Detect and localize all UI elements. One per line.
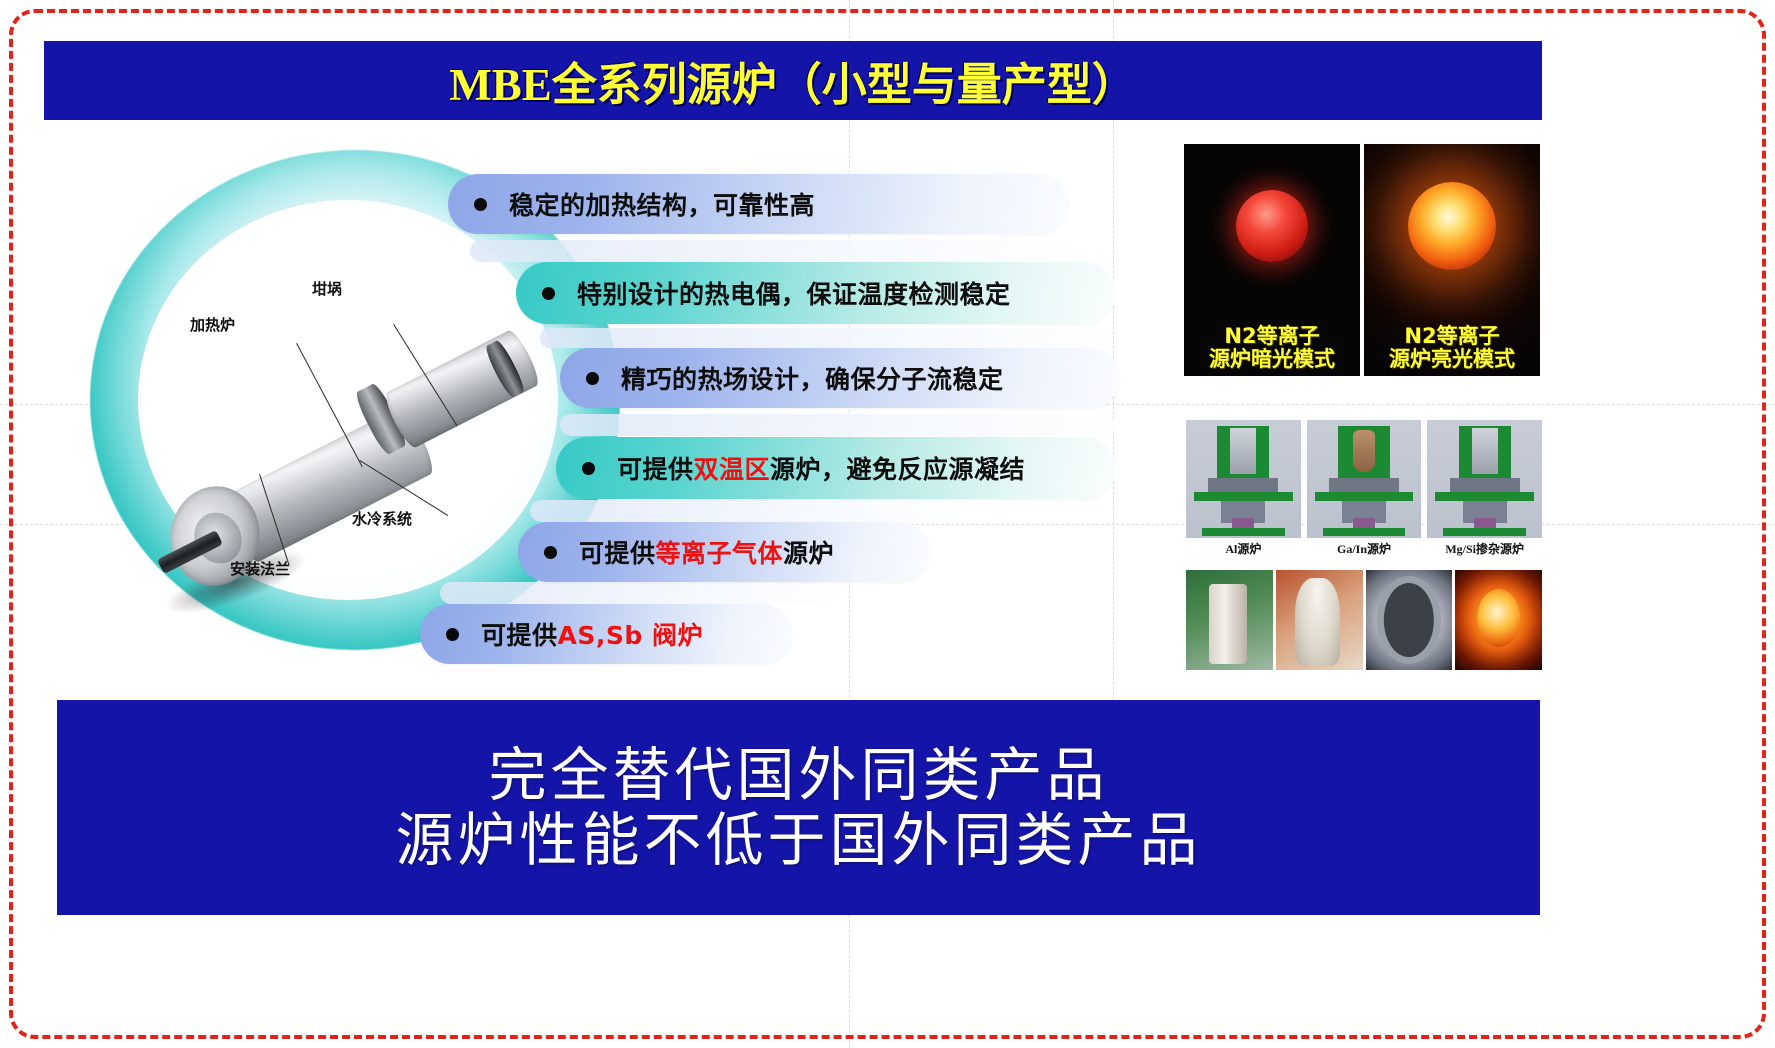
bullet-5-pre: 可提供 [579,539,656,568]
summary-line-2: 源炉性能不低于国外同类产品 [395,808,1201,873]
pill-echo-2 [540,328,1110,348]
bullet-text-3: 精巧的热场设计，确保分子流稳定 [621,360,1004,396]
photo-crucible[interactable] [1186,570,1273,670]
bullet-dot-icon [542,287,555,300]
photo-flange-assembly[interactable] [1366,570,1453,670]
bullet-6-highlight: AS,Sb 阀炉 [558,621,703,650]
bullet-4-pre: 可提供 [617,455,694,484]
pill-echo-4 [530,500,960,522]
plasma-glow-dark-icon [1236,190,1308,262]
title-cjk-part: 全系列源炉（小型与量产型） [552,58,1137,111]
photo-crucible-cone[interactable] [1276,570,1363,670]
cad-base-plate [1202,528,1285,536]
bullet-4-post: 源炉，避免反应源凝结 [770,455,1025,484]
cad-flange-plate [1194,492,1293,501]
plasma-caption-bright: N2等离子 源炉亮光模式 [1364,325,1540,372]
bullet-item-5[interactable]: 可提供等离子气体源炉 [518,522,930,582]
plasma-photo-row: N2等离子 源炉暗光模式 N2等离子 源炉亮光模式 [1184,144,1540,376]
cad-midsection [1450,478,1520,492]
bullet-text-6: 可提供AS,Sb 阀炉 [481,616,703,652]
plasma-glow-bright-icon [1408,182,1496,270]
bullet-text-1: 稳定的加热结构，可靠性高 [509,186,815,222]
summary-line-1: 完全替代国外同类产品 [488,743,1108,808]
bullet-item-3[interactable]: 精巧的热场设计，确保分子流稳定 [560,348,1120,408]
bullet-text-2: 特别设计的热电偶，保证温度检测稳定 [577,275,1011,311]
bullet-text-5: 可提供等离子气体源炉 [579,534,834,570]
bullet-dot-icon [582,462,595,475]
plasma-card-bright-mode[interactable]: N2等离子 源炉亮光模式 [1364,144,1540,376]
cad-cross-section-row: Al源炉 Ga/In源炉 M [1186,420,1542,568]
cad-crucible-core [1353,430,1375,472]
cad-midsection [1208,478,1278,492]
bullet-4-highlight: 双温区 [694,455,771,484]
cad-flange-plate [1315,492,1414,501]
plasma-caption-bright-line2: 源炉亮光模式 [1364,348,1540,372]
bullet-2-pre: 特别设计的热电偶，保证温度检测稳定 [577,280,1011,309]
summary-banner: 完全替代国外同类产品 源炉性能不低于国外同类产品 [57,700,1540,915]
plasma-caption-dark: N2等离子 源炉暗光模式 [1184,325,1360,372]
cad-crucible-core [1472,428,1498,474]
pill-echo-5 [440,582,840,604]
pill-echo-3 [560,414,1116,436]
plasma-caption-dark-line1: N2等离子 [1184,325,1360,349]
bullet-item-2[interactable]: 特别设计的热电偶，保证温度检测稳定 [516,262,1116,324]
cad-base-plate [1323,528,1406,536]
cad-flange-plate [1435,492,1534,501]
pill-echo-1 [470,240,1070,262]
cad-image-gain [1307,420,1422,538]
cad-base-plate [1443,528,1526,536]
slide-title-bar: MBE全系列源炉（小型与量产型） [44,41,1542,120]
plasma-caption-bright-line1: N2等离子 [1364,325,1540,349]
cad-image-al [1186,420,1301,538]
cad-card-mgsi[interactable]: Mg/Si掺杂源炉 [1427,420,1542,568]
photo-glowing-furnace[interactable] [1455,570,1542,670]
bullet-3-pre: 精巧的热场设计，确保分子流稳定 [621,365,1004,394]
bullet-item-6[interactable]: 可提供AS,Sb 阀炉 [420,604,792,664]
plasma-caption-dark-line2: 源炉暗光模式 [1184,348,1360,372]
bullet-dot-icon [544,546,557,559]
bullet-item-1[interactable]: 稳定的加热结构，可靠性高 [448,174,1068,234]
product-photo-strip [1186,570,1542,670]
bullet-item-4[interactable]: 可提供双温区源炉，避免反应源凝结 [556,437,1116,499]
title-latin-part: MBE [449,60,552,110]
cad-caption-al: Al源炉 [1186,540,1301,557]
bullet-dot-icon [586,372,599,385]
cad-card-gain[interactable]: Ga/In源炉 [1307,420,1422,568]
cad-card-al[interactable]: Al源炉 [1186,420,1301,568]
plasma-card-dark-mode[interactable]: N2等离子 源炉暗光模式 [1184,144,1360,376]
bullet-text-4: 可提供双温区源炉，避免反应源凝结 [617,450,1025,486]
cad-caption-mgsi: Mg/Si掺杂源炉 [1427,540,1542,557]
bullet-6-pre: 可提供 [481,621,558,650]
cad-image-mgsi [1427,420,1542,538]
bullet-dot-icon [446,628,459,641]
bullet-5-post: 源炉 [783,539,834,568]
cad-crucible-core [1230,428,1256,474]
bullet-dot-icon [474,198,487,211]
page-title: MBE全系列源炉（小型与量产型） [449,48,1137,113]
bullet-1-pre: 稳定的加热结构，可靠性高 [509,191,815,220]
cad-caption-gain: Ga/In源炉 [1307,540,1422,557]
cad-midsection [1329,478,1399,492]
bullet-5-highlight: 等离子气体 [656,539,784,568]
slide-canvas: MBE全系列源炉（小型与量产型） 坩埚 加热炉 水冷系统 安装法兰 [0,0,1775,1048]
